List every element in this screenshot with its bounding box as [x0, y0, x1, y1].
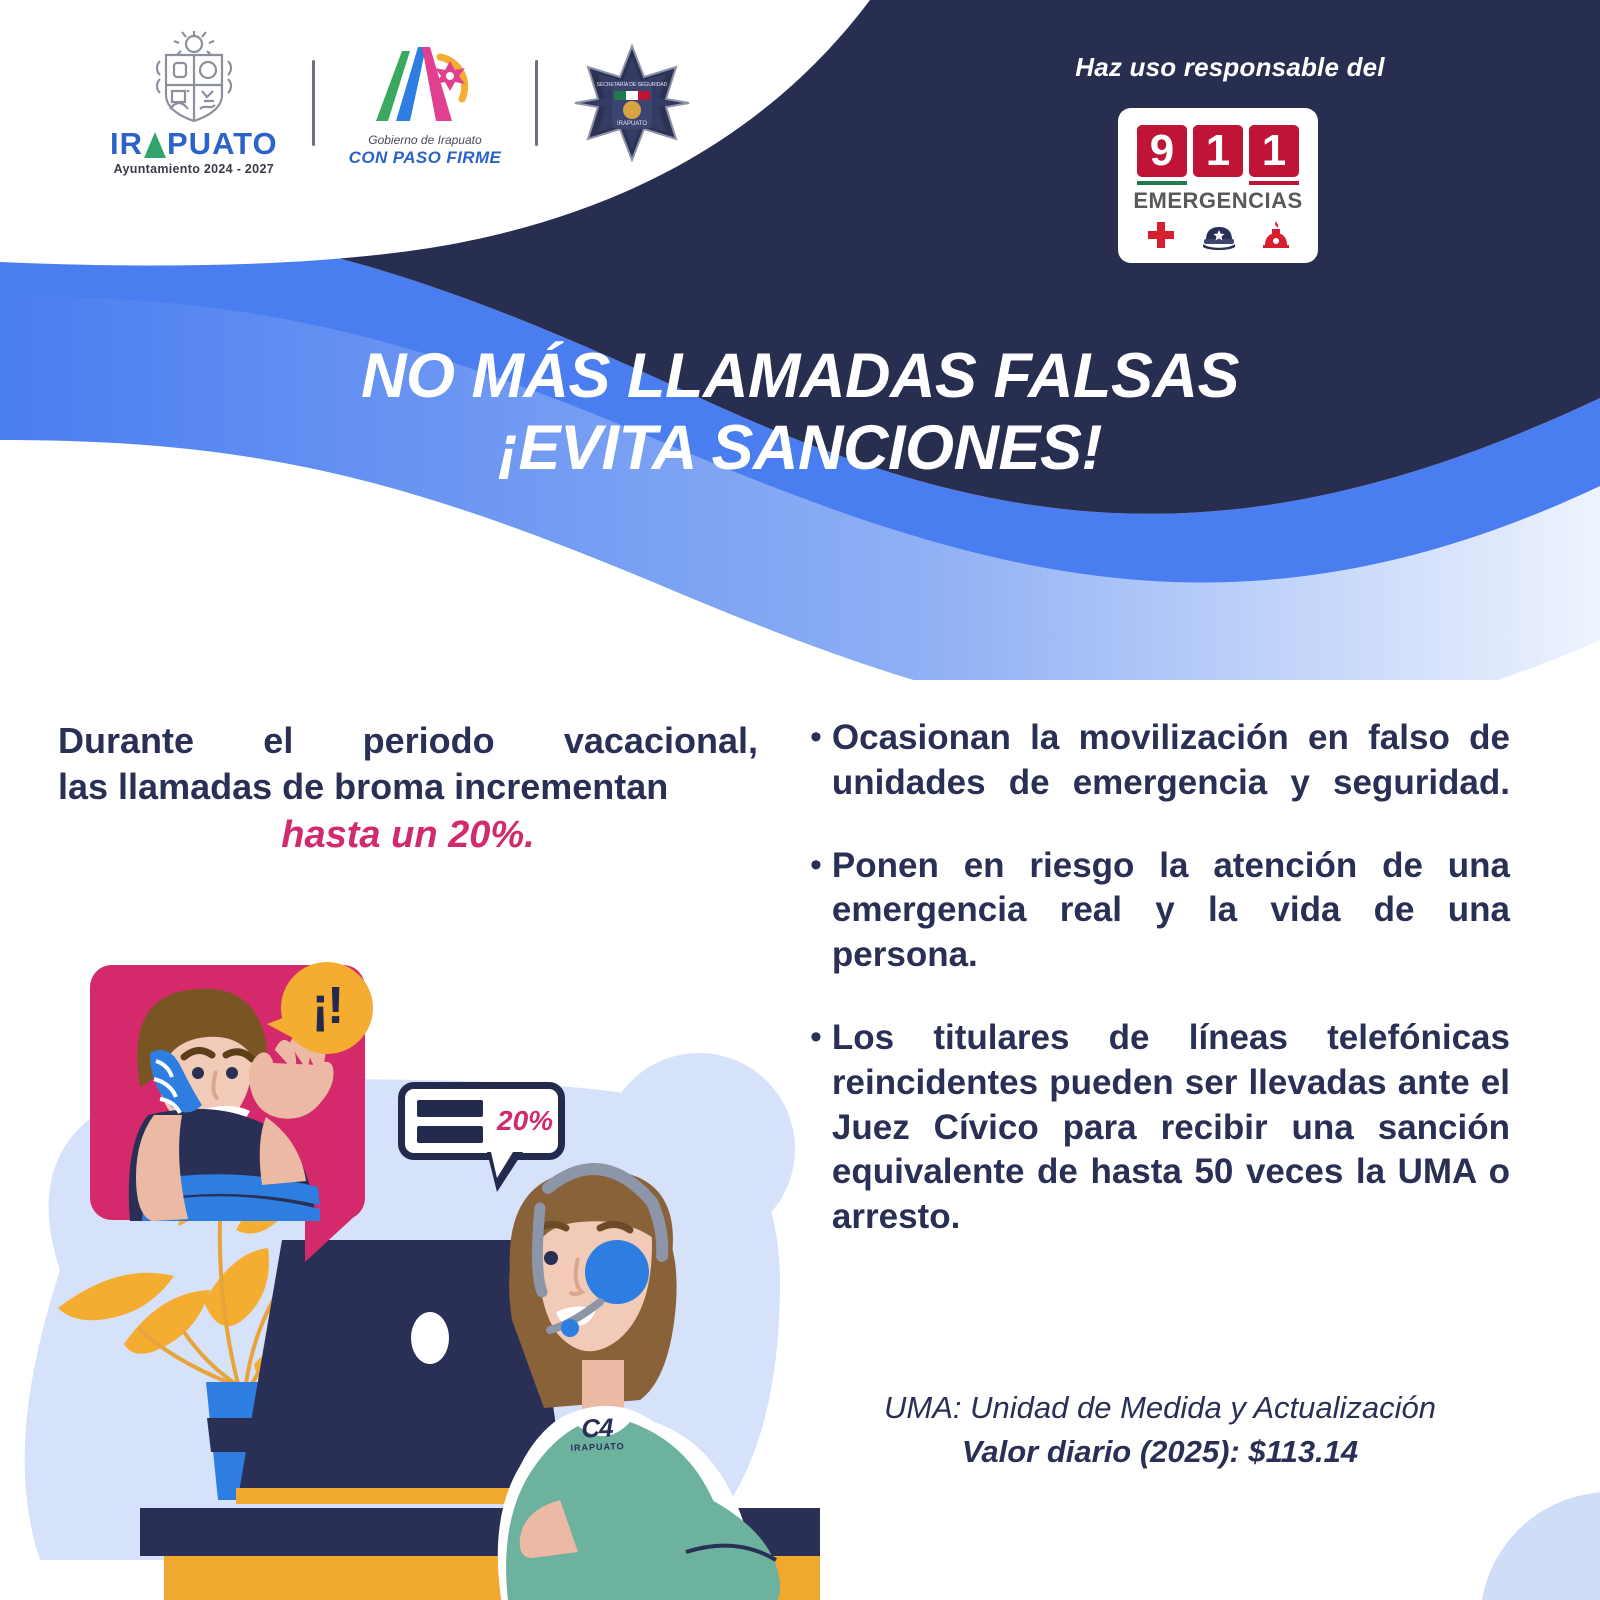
institutional-logos: IRPUATO Ayuntamiento 2024 - 2027 Gobiern… — [110, 28, 692, 178]
gobierno-tagline-1: Gobierno de Irapuato — [368, 133, 481, 147]
exclamation-speech-bubble: ¡! — [281, 962, 373, 1054]
left-statement-highlight: hasta un 20%. — [58, 814, 758, 857]
list-item: • Los titulares de líneas telefónicas re… — [810, 1016, 1510, 1240]
uma-footnote: UMA: Unidad de Medida y Actualización Va… — [810, 1388, 1510, 1473]
stats-bars-icon — [417, 1100, 483, 1143]
emergencias-label: EMERGENCIAS — [1133, 188, 1302, 214]
911-emergencias-badge: 9 1 1 EMERGENCIAS — [1118, 108, 1318, 263]
firefighter-helmet-icon — [1262, 220, 1290, 250]
caller-arm-right — [260, 1117, 306, 1185]
bullet-marker-icon: • — [810, 1016, 822, 1240]
stats-bar-2 — [417, 1126, 483, 1143]
bullet-marker-icon: • — [810, 844, 822, 978]
police-star-badge-icon: SECRETARÍA DE SEGURIDAD IRAPUATO — [572, 43, 692, 163]
title-line-2: ¡EVITA SANCIONES! — [0, 412, 1600, 484]
gobierno-tagline-2: CON PASO FIRME — [349, 148, 502, 168]
badge-city: IRAPUATO — [617, 121, 647, 127]
headset-band-left — [537, 1208, 542, 1292]
operator-eye-left — [544, 1251, 558, 1265]
logo-divider-2 — [535, 60, 538, 146]
bullet-text-2: Ponen en riesgo la atención de una emerg… — [832, 844, 1510, 978]
c4-logo-sub: IRAPUATO — [570, 1441, 624, 1453]
title-line-1: NO MÁS LLAMADAS FALSAS — [361, 341, 1239, 411]
left-statement: Durante el periodo vacacional, las llama… — [58, 718, 758, 857]
tricolor-red — [1249, 181, 1299, 185]
irapuato-wordmark: IRPUATO — [110, 128, 278, 159]
policia-badge-logo: SECRETARÍA DE SEGURIDAD IRAPUATO — [572, 43, 692, 163]
tricolor-green — [1137, 181, 1187, 185]
haz-uso-responsable-text: Haz uso responsable del — [1040, 52, 1420, 83]
list-item: • Ocasionan la movilización en falso de … — [810, 716, 1510, 806]
c4-logo-main: C4 — [569, 1414, 624, 1442]
gobierno-a-mark-icon — [366, 39, 484, 131]
decorative-circle-bottom-right — [1480, 1492, 1600, 1600]
mexico-tricolor-rule — [1137, 181, 1299, 185]
exclamation-glyph: ¡! — [312, 980, 343, 1032]
stats-percent-value: 20% — [497, 1105, 553, 1137]
c4-uniform-logo: C4 IRAPUATO — [569, 1414, 624, 1453]
digit-1-a: 1 — [1193, 125, 1243, 177]
tricolor-white — [1193, 181, 1243, 185]
irapuato-subtitle: Ayuntamiento 2024 - 2027 — [114, 162, 274, 176]
headset-earcup-icon — [585, 1240, 649, 1304]
badge-line1: SECRETARÍA DE SEGURIDAD — [597, 81, 668, 88]
gobierno-irapuato-logo: Gobierno de Irapuato CON PASO FIRME — [349, 39, 502, 168]
consequences-bullet-list: • Ocasionan la movilización en falso de … — [810, 716, 1510, 1278]
page-title: NO MÁS LLAMADAS FALSAS ¡EVITA SANCIONES! — [0, 340, 1600, 485]
911-digits: 9 1 1 — [1137, 125, 1299, 177]
list-item: • Ponen en riesgo la atención de una eme… — [810, 844, 1510, 978]
bullet-text-3: Los titulares de líneas telefónicas rein… — [832, 1016, 1510, 1240]
police-cap-icon — [1202, 224, 1236, 250]
bullet-text-1: Ocasionan la movilización en falso de un… — [832, 716, 1510, 806]
headset-mic-tip — [561, 1319, 579, 1337]
laptop-logo-icon — [411, 1312, 449, 1364]
poster-canvas: IRPUATO Ayuntamiento 2024 - 2027 Gobiern… — [0, 0, 1600, 1600]
caller-eye-left — [192, 1067, 204, 1079]
red-cross-icon — [1146, 220, 1176, 250]
uma-daily-value: Valor diario (2025): $113.14 — [810, 1432, 1510, 1472]
irapuato-coat-of-arms-icon — [150, 31, 238, 123]
left-statement-line-1: Durante el periodo vacacional, — [58, 718, 758, 764]
irapuato-logo: IRPUATO Ayuntamiento 2024 - 2027 — [110, 31, 278, 176]
uma-definition: UMA: Unidad de Medida y Actualización — [810, 1388, 1510, 1428]
logo-divider-1 — [312, 60, 315, 146]
stats-bubble-tail-inner — [491, 1152, 513, 1178]
irapuato-word-post: PUATO — [167, 128, 278, 159]
stats-bar-1 — [417, 1100, 483, 1117]
irapuato-word-pre: IR — [110, 128, 143, 159]
caller-eye-right — [226, 1067, 238, 1079]
left-statement-line-2: las llamadas de broma incrementan — [58, 764, 758, 810]
digit-9: 9 — [1137, 125, 1187, 177]
bullet-marker-icon: • — [810, 716, 822, 806]
digit-1-b: 1 — [1249, 125, 1299, 177]
911-service-icons — [1146, 220, 1290, 250]
stats-speech-bubble: 20% — [398, 1082, 565, 1160]
irapuato-triangle-a-icon — [144, 132, 166, 158]
